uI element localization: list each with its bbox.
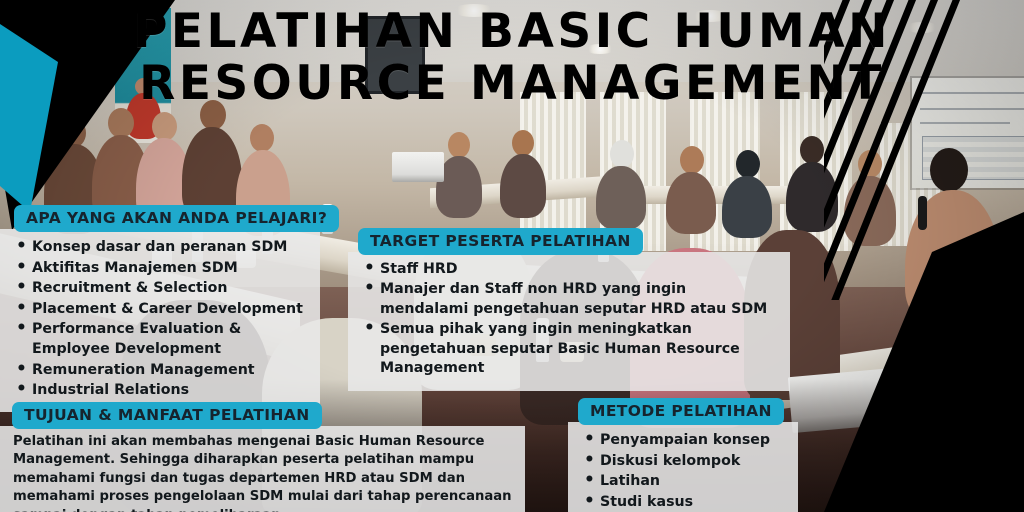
list-item: Remuneration Management: [14, 361, 306, 381]
goals-paragraph: Pelatihan ini akan membahas mengenai Bas…: [13, 433, 513, 512]
list-item: Recruitment & Selection: [14, 279, 306, 299]
poster: PELATIHAN BASIC HUMAN RESOURCE MANAGEMEN…: [0, 0, 1024, 512]
card-goals-and-benefits: TUJUAN & MANFAAT PELATIHAN Pelatihan ini…: [0, 402, 525, 512]
method-list: Penyampaian konsep Diskusi kelompok Lati…: [582, 430, 784, 512]
card-training-method: METODE PELATIHAN Penyampaian konsep Disk…: [568, 398, 798, 512]
list-item: Staff HRD: [362, 260, 776, 279]
learn-list: Konsep dasar dan peranan SDM Aktifitas M…: [14, 238, 306, 401]
list-item: Penyampaian konsep: [582, 430, 784, 451]
card-body-goals-and-benefits: Pelatihan ini akan membahas mengenai Bas…: [0, 426, 525, 512]
target-list: Staff HRD Manajer dan Staff non HRD yang…: [362, 260, 776, 378]
list-item: Studi kasus: [582, 492, 784, 512]
card-heading-goals-and-benefits: TUJUAN & MANFAAT PELATIHAN: [12, 402, 322, 429]
list-item: Industrial Relations: [14, 381, 306, 401]
page-title-line-1: PELATIHAN BASIC HUMAN: [133, 4, 891, 59]
list-item: Aktifitas Manajemen SDM: [14, 259, 306, 279]
card-heading-target-participants: TARGET PESERTA PELATIHAN: [358, 228, 643, 255]
list-item: Diskusi kelompok: [582, 451, 784, 472]
card-body-training-method: Penyampaian konsep Diskusi kelompok Lati…: [568, 422, 798, 512]
card-target-participants: TARGET PESERTA PELATIHAN Staff HRD Manaj…: [348, 228, 790, 391]
list-item: Latihan: [582, 471, 784, 492]
card-what-you-will-learn: APA YANG AKAN ANDA PELAJARI? Konsep dasa…: [0, 205, 320, 412]
page-title-line-2: RESOURCE MANAGEMENT: [0, 58, 1024, 110]
card-heading-training-method: METODE PELATIHAN: [578, 398, 784, 425]
list-item: Semua pihak yang ingin meningkatkan peng…: [362, 320, 776, 378]
list-item: Placement & Career Development: [14, 300, 306, 320]
list-item: Manajer dan Staff non HRD yang ingin men…: [362, 280, 776, 319]
card-body-what-you-will-learn: Konsep dasar dan peranan SDM Aktifitas M…: [0, 229, 320, 412]
page-title: PELATIHAN BASIC HUMAN RESOURCE MANAGEMEN…: [0, 6, 1024, 110]
card-heading-what-you-will-learn: APA YANG AKAN ANDA PELAJARI?: [14, 205, 339, 232]
card-body-target-participants: Staff HRD Manajer dan Staff non HRD yang…: [348, 252, 790, 391]
list-item: Konsep dasar dan peranan SDM: [14, 238, 306, 258]
list-item: Performance Evaluation & Employee Develo…: [14, 320, 306, 359]
